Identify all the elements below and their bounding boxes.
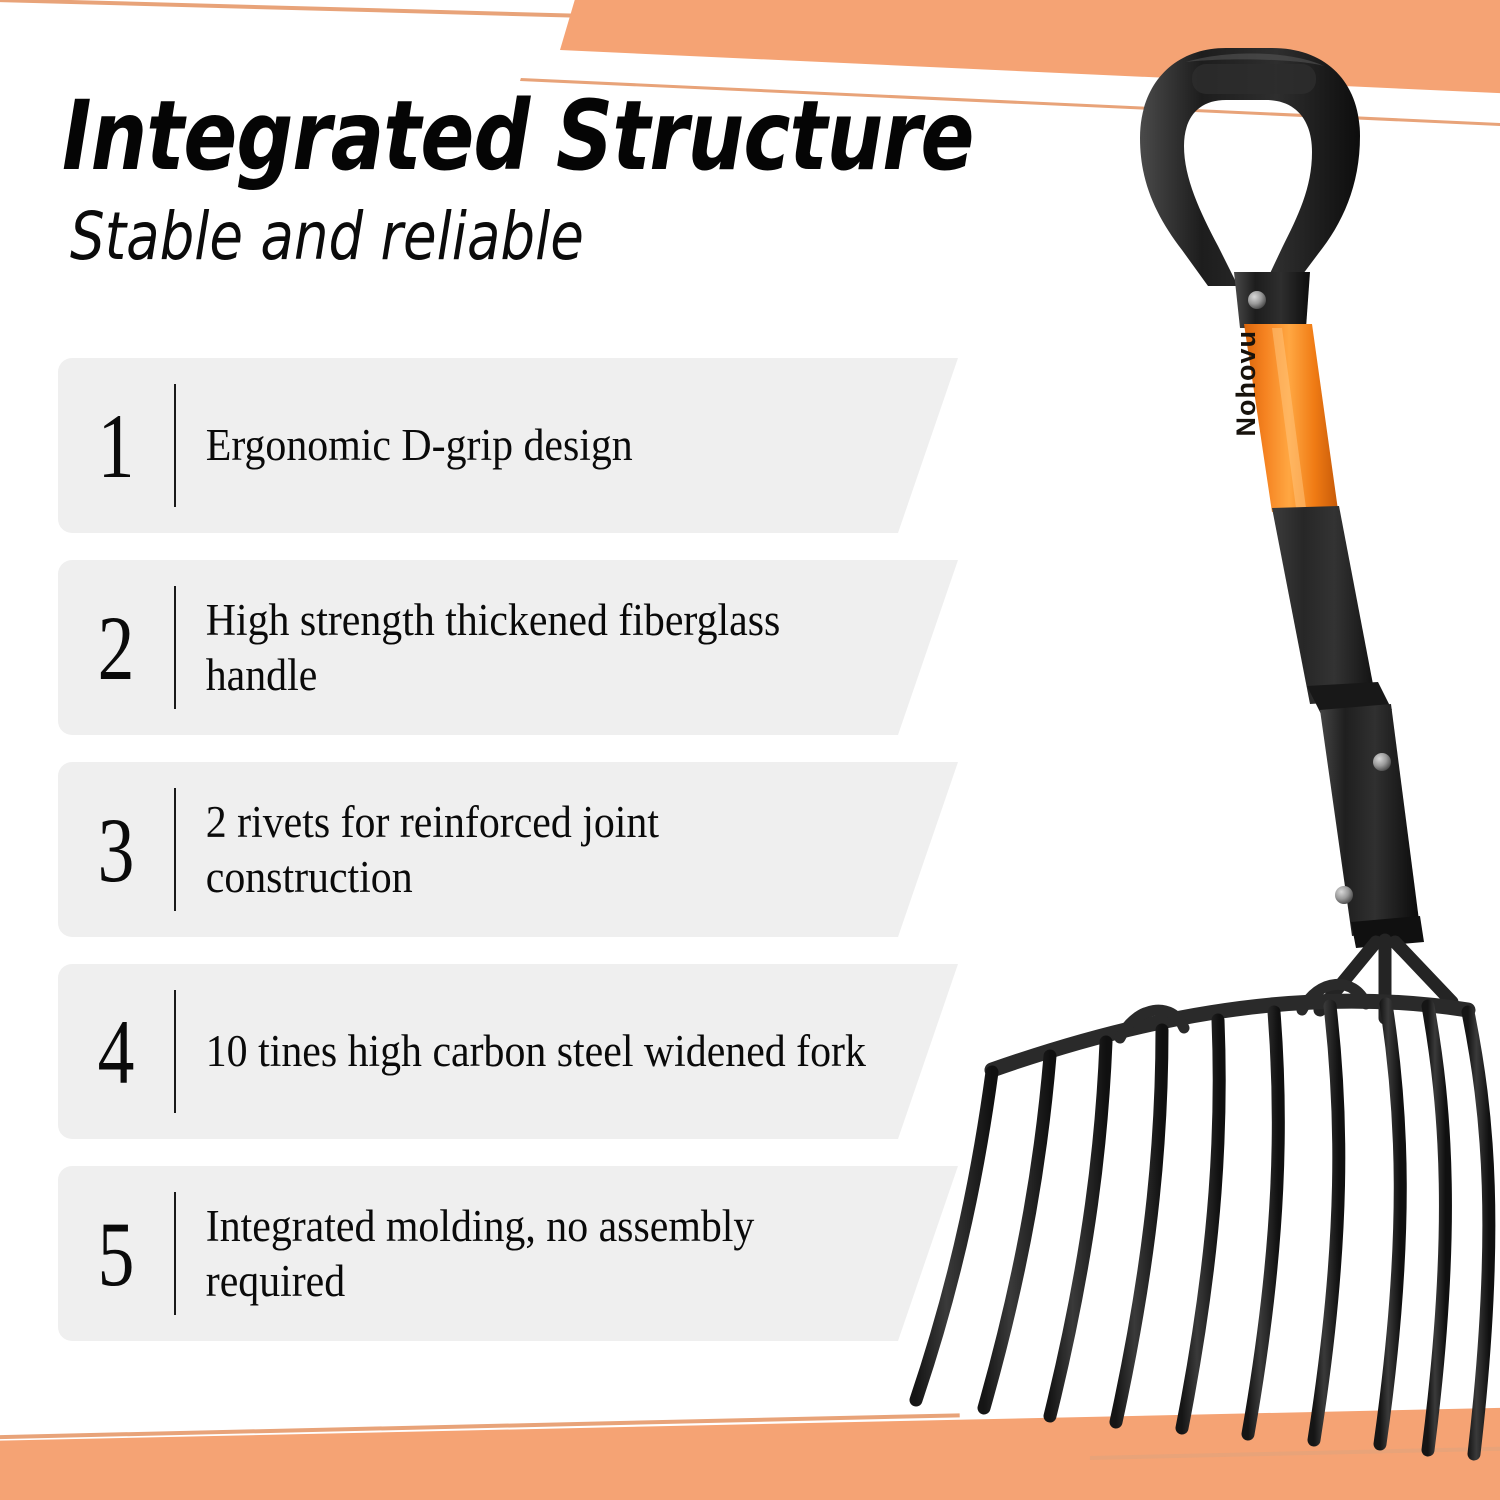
- pitchfork-illustration: [820, 10, 1500, 1490]
- grip-rivet: [1248, 291, 1266, 309]
- feature-number: 2: [70, 602, 163, 694]
- riveted-steel-ferrule: [1320, 704, 1420, 936]
- ferrule-rivet-lower: [1335, 886, 1353, 904]
- feature-number: 4: [70, 1006, 163, 1098]
- tine-3: [1050, 1042, 1106, 1416]
- tine-8: [1380, 1004, 1400, 1444]
- black-grip-sleeve: [1272, 506, 1376, 704]
- product-image-pitchfork: [820, 10, 1500, 1490]
- tine-6: [1248, 1012, 1278, 1434]
- feature-number: 3: [70, 804, 163, 896]
- infographic-page: Integrated Structure Stable and reliable…: [0, 0, 1500, 1500]
- tine-2: [984, 1056, 1050, 1408]
- feature-number: 1: [70, 400, 163, 492]
- ten-tine-fork-head: [916, 940, 1489, 1454]
- bottom-left-accent-line: [0, 1413, 960, 1440]
- feature-text: Integrated molding, no assembly required: [176, 1199, 903, 1309]
- head-brace-right: [1395, 942, 1452, 1002]
- ferrule-rivet-upper: [1373, 753, 1391, 771]
- tine-1: [916, 1072, 992, 1400]
- feature-text: 2 rivets for reinforced joint constructi…: [176, 795, 903, 905]
- feature-number: 5: [70, 1208, 163, 1300]
- feature-text: 10 tines high carbon steel widened fork: [176, 1024, 903, 1079]
- feature-text: High strength thickened fiberglass handl…: [176, 593, 903, 703]
- tine-5: [1182, 1020, 1219, 1428]
- grip-socket: [1234, 272, 1310, 328]
- tine-10: [1468, 1012, 1489, 1454]
- grip-top-bar: [1192, 64, 1316, 94]
- tine-4: [1116, 1030, 1162, 1422]
- feature-text: Ergonomic D-grip design: [176, 418, 670, 473]
- tine-9: [1428, 1006, 1445, 1450]
- brand-label: Nohovu: [1231, 330, 1262, 437]
- d-grip-handle: [1140, 48, 1360, 328]
- tine-7: [1314, 1006, 1339, 1440]
